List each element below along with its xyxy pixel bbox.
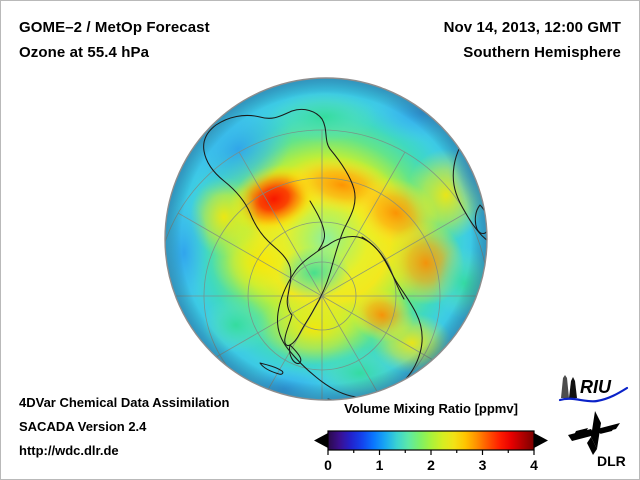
dlr-logo-svg: DLR bbox=[564, 409, 628, 469]
coastline-africa-north bbox=[460, 135, 482, 147]
riu-chimney-left-icon bbox=[561, 375, 569, 398]
wdc-url[interactable]: http://wdc.dlr.de bbox=[19, 439, 230, 463]
hemisphere-label: Southern Hemisphere bbox=[301, 40, 621, 65]
dlr-logo: DLR bbox=[564, 409, 628, 474]
colorbar-extend-high-arrow bbox=[534, 433, 548, 448]
globe-svg bbox=[164, 77, 488, 401]
footer-text: 4DVar Chemical Data Assimilation SACADA … bbox=[19, 391, 230, 463]
globe-map bbox=[164, 77, 488, 401]
header-left: GOME–2 / MetOp Forecast Ozone at 55.4 hP… bbox=[19, 15, 319, 65]
svg-text:0: 0 bbox=[324, 457, 332, 473]
coastline-australia bbox=[414, 392, 458, 401]
riu-logo-svg: RIU bbox=[557, 372, 629, 404]
ozone-forecast-figure: GOME–2 / MetOp Forecast Ozone at 55.4 hP… bbox=[0, 0, 640, 480]
colorbar-tick-labels: 01234 bbox=[324, 457, 538, 473]
riu-wordmark: RIU bbox=[580, 377, 612, 397]
riu-chimney-right-icon bbox=[569, 377, 577, 398]
colorbar-extend-low-arrow bbox=[314, 433, 328, 448]
limb-shading bbox=[165, 78, 487, 400]
svg-text:3: 3 bbox=[479, 457, 487, 473]
svg-text:1: 1 bbox=[376, 457, 384, 473]
riu-logo: RIU bbox=[557, 372, 629, 409]
version-label: SACADA Version 2.4 bbox=[19, 415, 230, 439]
colorbar-ticks bbox=[328, 450, 534, 455]
svg-text:2: 2 bbox=[427, 457, 435, 473]
forecast-timestamp: Nov 14, 2013, 12:00 GMT bbox=[301, 15, 621, 40]
colorbar-ramp bbox=[328, 431, 534, 450]
method-label: 4DVar Chemical Data Assimilation bbox=[19, 391, 230, 415]
colorbar: Volume Mixing Ratio [ppmv] 01234 bbox=[311, 401, 551, 473]
header-right: Nov 14, 2013, 12:00 GMT Southern Hemisph… bbox=[301, 15, 621, 65]
svg-text:4: 4 bbox=[530, 457, 538, 473]
colorbar-svg: 01234 bbox=[311, 421, 551, 473]
instrument-title: GOME–2 / MetOp Forecast bbox=[19, 15, 319, 40]
colorbar-title: Volume Mixing Ratio [ppmv] bbox=[311, 401, 551, 416]
dlr-wordmark: DLR bbox=[597, 453, 626, 469]
dlr-star-icon bbox=[568, 411, 620, 455]
variable-level-title: Ozone at 55.4 hPa bbox=[19, 40, 319, 65]
